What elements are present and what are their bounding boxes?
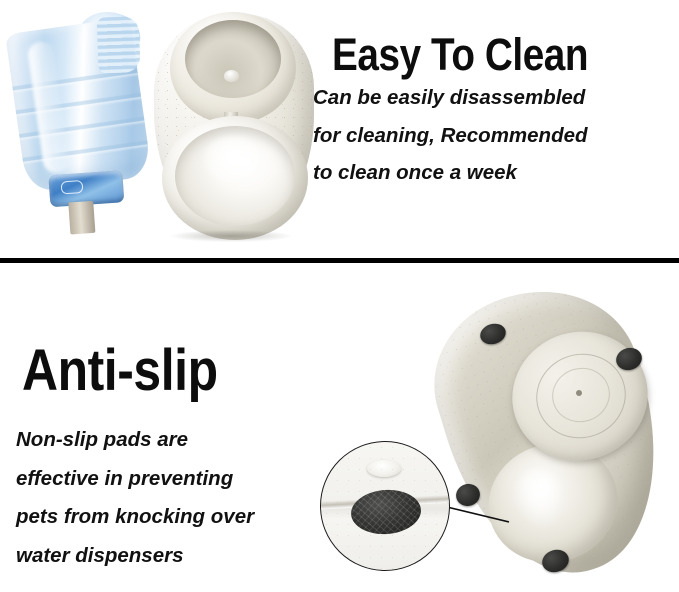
base-drop-shadow <box>170 230 292 242</box>
dispenser-assembly-photo <box>0 0 320 250</box>
drinking-bowl-highlight <box>203 136 261 182</box>
description-line: for cleaning, Recommended <box>313 126 588 147</box>
bottle-well-inner <box>185 20 281 98</box>
section-divider <box>0 258 679 263</box>
description-line: pets from knocking over <box>16 507 254 528</box>
description-line: to clean once a week <box>313 163 588 184</box>
description-line: effective in preventing <box>16 469 254 490</box>
callout-leader-line <box>447 500 509 526</box>
bottle-nozzle <box>68 201 95 235</box>
callout-speckle-texture <box>321 442 449 570</box>
bottle-cap-emblem <box>61 180 84 195</box>
magnified-pad-callout <box>320 441 450 571</box>
mounting-plate-center-dot <box>576 390 582 396</box>
page-title-anti-slip: Anti-slip <box>22 342 218 400</box>
description-anti-slip: Non-slip pads are effective in preventin… <box>16 430 254 584</box>
bottle-neck-threads <box>97 16 141 73</box>
bottle-well-valve-nub <box>224 70 239 82</box>
description-easy-to-clean: Can be easily disassembled for cleaning,… <box>313 88 588 201</box>
dispenser-underside-photo <box>420 282 679 582</box>
description-line: Non-slip pads are <box>16 430 254 451</box>
description-line: Can be easily disassembled <box>313 88 588 109</box>
description-line: water dispensers <box>16 546 254 567</box>
product-infographic: Easy To Clean Can be easily disassembled… <box>0 0 679 592</box>
dispenser-base <box>148 8 316 244</box>
page-title-easy-to-clean: Easy To Clean <box>332 32 588 77</box>
